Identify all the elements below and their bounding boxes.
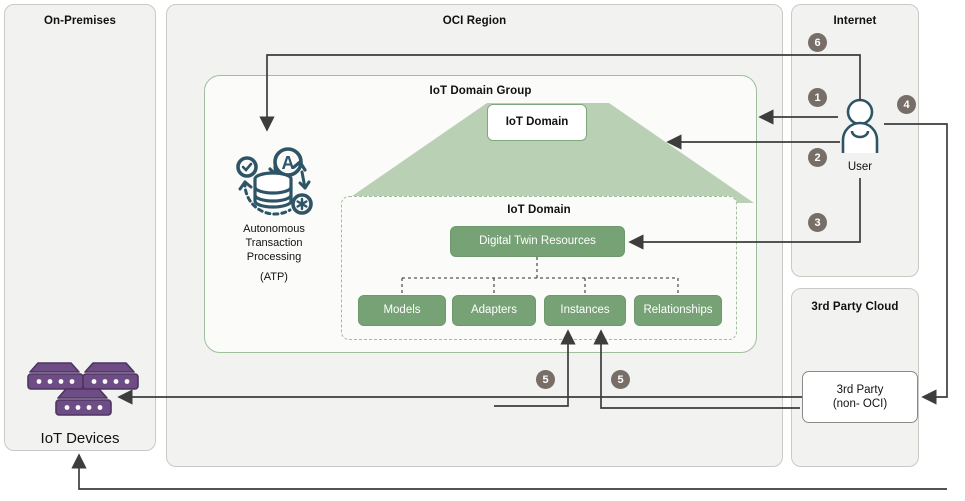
user-actor: User: [832, 95, 888, 175]
iot-devices-label: IoT Devices: [12, 430, 148, 447]
third-party-line2: (non- OCI): [833, 398, 887, 410]
iot-devices: IoT Devices: [12, 355, 148, 450]
atp-label-line1: Autonomous: [243, 223, 305, 235]
box-digital-twin-resources[interactable]: Digital Twin Resources: [450, 226, 625, 257]
atp-label: Autonomous Transaction Processing (ATP): [222, 223, 326, 285]
box-instances[interactable]: Instances: [544, 295, 626, 326]
box-adapters[interactable]: Adapters: [452, 295, 536, 326]
svg-text:A: A: [282, 153, 295, 173]
user-person-icon: [832, 95, 888, 155]
group-iot-domain-title: IoT Domain: [342, 204, 736, 216]
box-models[interactable]: Models: [358, 295, 446, 326]
step-badge-5: 5: [611, 370, 630, 389]
panel-third-party-cloud-title: 3rd Party Cloud: [792, 301, 918, 313]
panel-on-premises-title: On-Premises: [5, 15, 155, 27]
atp-label-abbrev: (ATP): [222, 271, 326, 285]
step-badge-2: 2: [808, 148, 827, 167]
panel-internet-title: Internet: [792, 15, 918, 27]
box-relationships[interactable]: Relationships: [634, 295, 722, 326]
iot-device-icon: [12, 355, 148, 423]
step-badge-6: 6: [808, 33, 827, 52]
group-iot-domain-group-title: IoT Domain Group: [205, 85, 756, 97]
atp-label-line3: Processing: [247, 251, 301, 263]
step-badge-3: 3: [808, 213, 827, 232]
panel-oci-region-title: OCI Region: [167, 15, 782, 27]
user-label: User: [832, 161, 888, 173]
atp-label-line2: Transaction: [245, 237, 302, 249]
step-badge-5: 5: [536, 370, 555, 389]
atp-database-icon: A: [232, 142, 316, 220]
third-party-line1: 3rd Party: [837, 384, 884, 396]
step-badge-1: 1: [808, 88, 827, 107]
atp-service: A Autonomous Transaction Processing (ATP…: [222, 142, 326, 277]
box-iot-domain[interactable]: IoT Domain: [487, 104, 587, 141]
step-badge-4: 4: [897, 95, 916, 114]
box-third-party-non-oci[interactable]: 3rd Party (non- OCI): [802, 371, 918, 423]
